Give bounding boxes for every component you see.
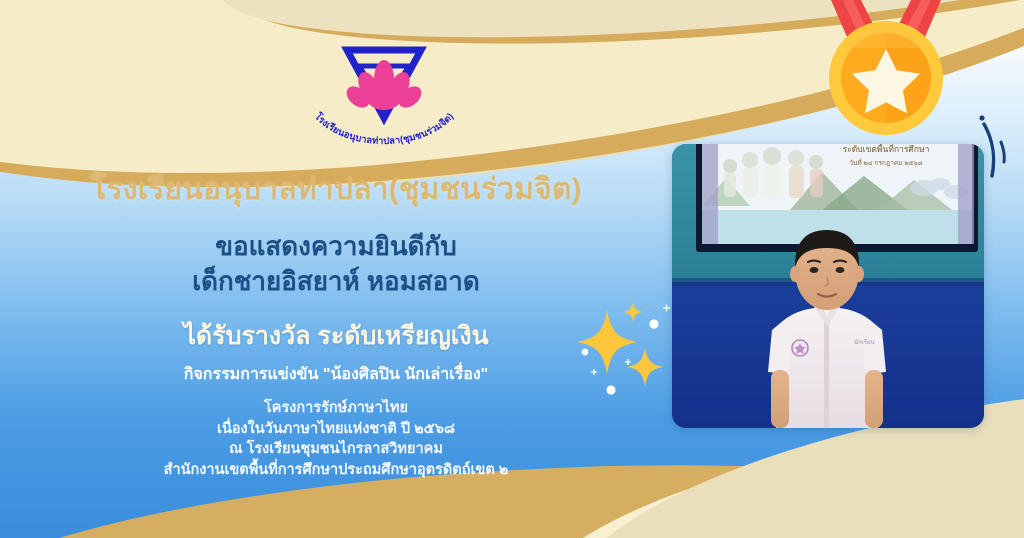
certificate-poster: โรงเรียนอนุบาลท่าปลา(ชุมชนร่วมจิต) (0, 0, 1024, 538)
school-logo: โรงเรียนอนุบาลท่าปลา(ชุมชนร่วมจิต) (289, 46, 479, 146)
award-line: ได้รับรางวัล ระดับเหรียญเงิน (0, 321, 672, 351)
congrat-line-1: ขอแสดงความยินดีกับ (0, 229, 672, 264)
student-photo: ระดับเขตพื้นที่การศึกษา วันที่ ๒๔ กรกฎาค… (672, 144, 984, 428)
student-name: เด็กชายอิสยาห์ หอมสอาด (0, 264, 672, 299)
medal-disc (829, 21, 943, 135)
poster-text-block: โรงเรียนอนุบาลท่าปลา(ชุมชนร่วมจิต) ขอแสด… (0, 172, 672, 481)
detail-lines: โครงการรักษ์ภาษาไทย เนื่องในวันภาษาไทยแห… (0, 398, 672, 480)
detail-line-4: สำนักงานเขตพื้นที่การศึกษาประถมศึกษาอุตร… (0, 460, 672, 481)
screen-title: ระดับเขตพื้นที่การศึกษา (843, 144, 930, 154)
activity-line: กิจกรรมการแข่งขัน "น้องศิลปิน นักเล่าเรื… (0, 365, 672, 384)
lotus-triangle-icon (343, 50, 426, 118)
school-name: โรงเรียนอนุบาลท่าปลา(ชุมชนร่วมจิต) (0, 172, 672, 207)
congratulation-block: ขอแสดงความยินดีกับ เด็กชายอิสยาห์ หอมสอา… (0, 229, 672, 299)
detail-line-2: เนื่องในวันภาษาไทยแห่งชาติ ปี ๒๕๖๘ (0, 419, 672, 440)
screen-subtitle: วันที่ ๒๔ กรกฎาคม ๒๕๖๘ (849, 158, 922, 167)
detail-line-3: ณ โรงเรียนชุมชนไกรลาสวิทยาคม (0, 439, 672, 460)
svg-text:นักเรียน: นักเรียน (854, 338, 875, 346)
detail-line-1: โครงการรักษ์ภาษาไทย (0, 398, 672, 419)
